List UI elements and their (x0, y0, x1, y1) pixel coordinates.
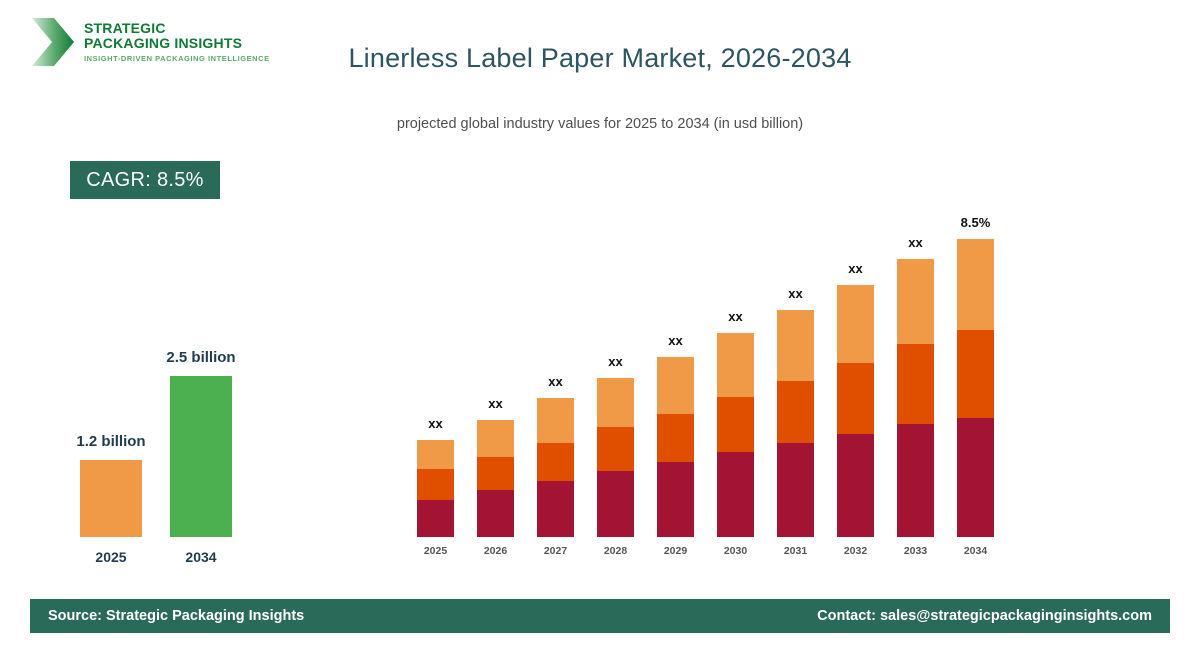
stacked-bar-category-label: 2025 (417, 545, 454, 557)
stacked-bar-segment (657, 462, 694, 537)
stacked-bar-segment (837, 363, 874, 434)
comparison-bar-group: 1.2 billion2025 (80, 357, 142, 537)
page-title: Linerless Label Paper Market, 2026-2034 (0, 43, 1200, 74)
stacked-bar-segment (477, 420, 514, 457)
stacked-bar-segment (417, 500, 454, 537)
stacked-bar (717, 333, 754, 537)
stacked-bar-segment (957, 239, 994, 330)
logo-line-1: STRATEGIC (84, 21, 270, 36)
stacked-bar-value-label: xx (451, 396, 541, 411)
stacked-bar-segment (537, 443, 574, 481)
stacked-bar-segment (777, 310, 814, 381)
stacked-bar-value-label: xx (871, 235, 961, 250)
stacked-bar (957, 239, 994, 537)
stacked-bar-value-label: xx (631, 333, 721, 348)
stacked-bar (657, 357, 694, 537)
stacked-bar (417, 440, 454, 537)
stacked-bar-category-label: 2028 (597, 545, 634, 557)
stacked-bar (477, 420, 514, 537)
stacked-bar (777, 310, 814, 537)
comparison-bar-value-label: 1.2 billion (41, 433, 181, 450)
stacked-bar-segment (597, 471, 634, 537)
stacked-bar-segment (837, 285, 874, 363)
stacked-bar-value-label: xx (691, 309, 781, 324)
stacked-bar (537, 398, 574, 537)
stacked-bar-value-label: xx (511, 374, 601, 389)
stacked-bar-category-label: 2029 (657, 545, 694, 557)
stacked-bar-value-label: xx (571, 354, 661, 369)
stacked-bar-value-label: 8.5% (931, 215, 1021, 230)
stacked-bar-segment (777, 381, 814, 443)
comparison-bar (80, 460, 142, 537)
stacked-bar-segment (957, 418, 994, 537)
stacked-bar-value-label: xx (751, 286, 841, 301)
stacked-bar-category-label: 2027 (537, 545, 574, 557)
stacked-bar-segment (717, 452, 754, 537)
stacked-bar-segment (597, 427, 634, 471)
stacked-bar-segment (897, 344, 934, 424)
page-subtitle: projected global industry values for 202… (0, 116, 1200, 132)
stacked-bar-segment (657, 414, 694, 462)
footer-source: Source: Strategic Packaging Insights (48, 608, 304, 624)
stacked-bar-segment (717, 397, 754, 452)
stacked-bar-category-label: 2030 (717, 545, 754, 557)
comparison-bar-category-label: 2034 (170, 549, 232, 565)
comparison-bar-category-label: 2025 (80, 549, 142, 565)
stacked-bar-segment (537, 398, 574, 443)
stacked-bar-category-label: 2032 (837, 545, 874, 557)
stacked-bar-segment (717, 333, 754, 397)
endpoint-comparison-chart: 1.2 billion20252.5 billion2034 (55, 300, 275, 570)
comparison-bar-group: 2.5 billion2034 (170, 357, 232, 537)
stacked-bar-segment (417, 469, 454, 500)
footer-bar: Source: Strategic Packaging Insights Con… (30, 599, 1170, 633)
stacked-bar-category-label: 2031 (777, 545, 814, 557)
stacked-bar-value-label: xx (391, 416, 481, 431)
stacked-bar (597, 378, 634, 537)
cagr-badge: CAGR: 8.5% (70, 161, 220, 199)
stacked-bar (897, 259, 934, 537)
stacked-forecast-chart: xx2025xx2026xx2027xx2028xx2029xx2030xx20… (405, 200, 1005, 560)
stacked-bar-segment (657, 357, 694, 414)
stacked-bar-segment (897, 424, 934, 537)
stacked-bar-segment (597, 378, 634, 427)
stacked-bar-segment (417, 440, 454, 469)
stacked-bar (837, 285, 874, 537)
stacked-bar-segment (897, 259, 934, 344)
stacked-bar-category-label: 2033 (897, 545, 934, 557)
stacked-bar-segment (477, 457, 514, 490)
comparison-bar (170, 376, 232, 537)
stacked-bar-value-label: xx (811, 261, 901, 276)
comparison-bar-value-label: 2.5 billion (131, 349, 271, 366)
stacked-bar-segment (537, 481, 574, 537)
stacked-bar-category-label: 2026 (477, 545, 514, 557)
footer-contact: Contact: sales@strategicpackaginginsight… (817, 608, 1152, 624)
stacked-bar-segment (957, 330, 994, 418)
stacked-bar-segment (477, 490, 514, 537)
stacked-bar-category-label: 2034 (957, 545, 994, 557)
stacked-bar-segment (777, 443, 814, 537)
stacked-bar-segment (837, 434, 874, 537)
